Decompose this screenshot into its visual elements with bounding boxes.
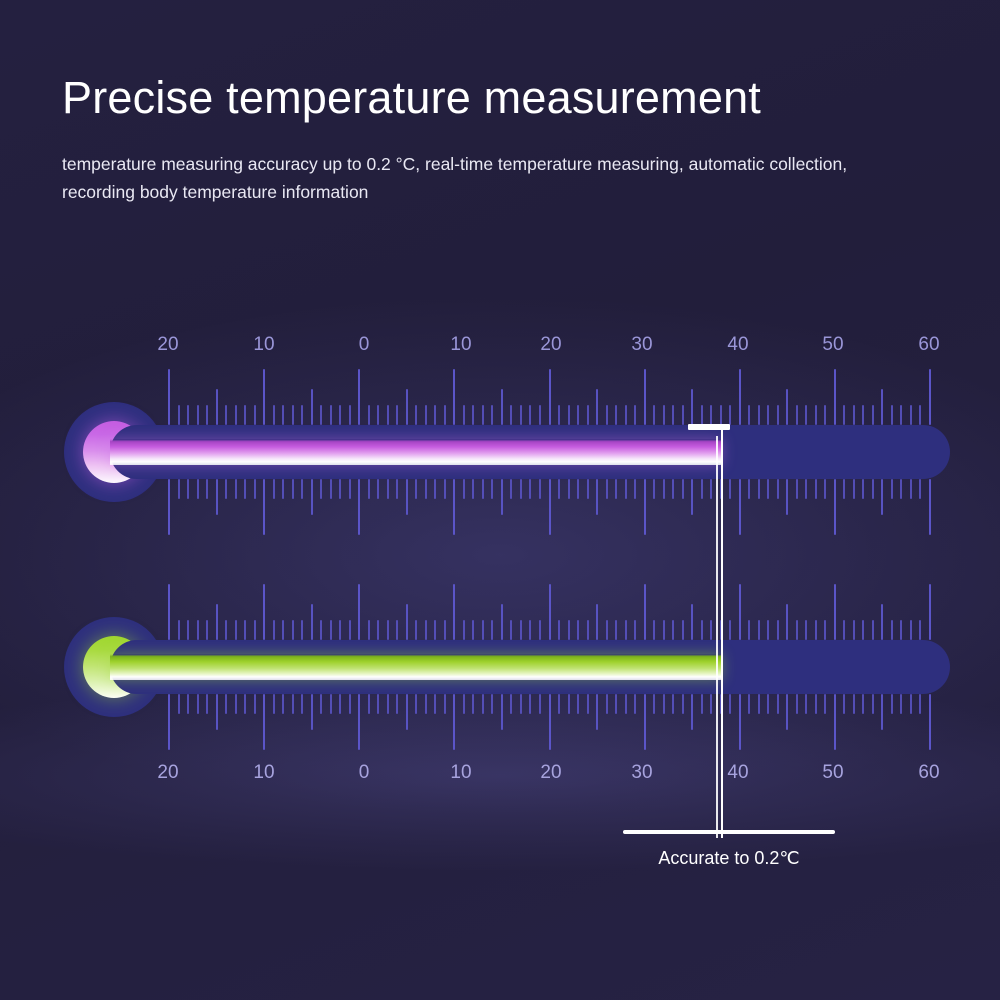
- ruler-tick: [377, 620, 379, 640]
- ruler-tick: [263, 369, 265, 425]
- ruler-tick: [187, 479, 189, 499]
- ruler-tick: [216, 694, 218, 730]
- ruler-tick: [786, 694, 788, 730]
- measurement-marker-line-secondary: [716, 436, 718, 838]
- ruler-tick: [891, 620, 893, 640]
- ruler-tick: [178, 405, 180, 425]
- ruler-tick: [606, 620, 608, 640]
- ruler-tick: [682, 405, 684, 425]
- ruler-tick: [368, 694, 370, 714]
- ruler-tick: [929, 584, 931, 640]
- ruler-tick: [919, 620, 921, 640]
- ruler-tick: [415, 620, 417, 640]
- top-scale-label-2: 0: [359, 334, 370, 356]
- ruler-tick: [434, 405, 436, 425]
- ruler-tick: [625, 694, 627, 714]
- ruler-tick: [349, 620, 351, 640]
- ruler-tick: [292, 479, 294, 499]
- ruler-tick: [843, 620, 845, 640]
- ruler-tick: [663, 694, 665, 714]
- ruler-tick: [796, 405, 798, 425]
- ruler-tick: [501, 479, 503, 515]
- ruler-tick: [900, 620, 902, 640]
- ruler-tick: [292, 694, 294, 714]
- ruler-tick: [834, 584, 836, 640]
- ruler-tick: [387, 620, 389, 640]
- ruler-tick: [168, 479, 170, 535]
- ruler-tick: [168, 584, 170, 640]
- ruler-tick: [339, 405, 341, 425]
- ruler-tick: [320, 479, 322, 499]
- ruler-tick: [453, 479, 455, 535]
- ruler-tick: [919, 479, 921, 499]
- ruler-tick: [701, 405, 703, 425]
- ruler-tick: [396, 479, 398, 499]
- ruler-tick: [644, 584, 646, 640]
- ruler-tick: [843, 405, 845, 425]
- ruler-tick: [672, 479, 674, 499]
- ruler-tick: [625, 479, 627, 499]
- ruler-tick: [596, 389, 598, 425]
- ruler-tick: [254, 694, 256, 714]
- ruler-tick: [891, 694, 893, 714]
- top-scale-label-4: 20: [540, 334, 561, 356]
- ruler-tick: [615, 694, 617, 714]
- ruler-tick: [805, 479, 807, 499]
- ruler-tick: [472, 620, 474, 640]
- ruler-tick: [805, 694, 807, 714]
- ruler-tick: [862, 694, 864, 714]
- ruler-tick: [339, 479, 341, 499]
- ruler-tick: [577, 405, 579, 425]
- ruler-tick: [197, 620, 199, 640]
- ruler-tick: [235, 405, 237, 425]
- ruler-tick: [663, 620, 665, 640]
- ruler-tick: [853, 620, 855, 640]
- bottom-scale-label-0: 20: [157, 762, 178, 784]
- ruler-tick: [434, 620, 436, 640]
- ruler-tick: [701, 694, 703, 714]
- ruler-tick: [178, 620, 180, 640]
- callout-label: Accurate to 0.2℃: [658, 848, 799, 869]
- bottom-fill-bar: [110, 654, 722, 680]
- ruler-tick: [178, 694, 180, 714]
- ruler-tick: [187, 405, 189, 425]
- ruler-tick: [396, 620, 398, 640]
- ruler-tick: [510, 694, 512, 714]
- ruler-tick: [282, 479, 284, 499]
- ruler-tick: [463, 694, 465, 714]
- ruler-tick: [311, 389, 313, 425]
- ruler-tick: [682, 694, 684, 714]
- ruler-tick: [311, 479, 313, 515]
- ruler-tick: [596, 604, 598, 640]
- ruler-tick: [358, 479, 360, 535]
- ruler-tick: [672, 694, 674, 714]
- ruler-tick: [453, 369, 455, 425]
- ruler-tick: [577, 694, 579, 714]
- ruler-tick: [539, 479, 541, 499]
- ruler-tick: [777, 620, 779, 640]
- ruler-tick: [415, 405, 417, 425]
- ruler-tick: [929, 369, 931, 425]
- ruler-tick: [425, 694, 427, 714]
- ruler-tick: [254, 479, 256, 499]
- ruler-tick: [615, 405, 617, 425]
- ruler-tick: [701, 479, 703, 499]
- ruler-tick: [510, 620, 512, 640]
- ruler-tick: [206, 479, 208, 499]
- ruler-tick: [463, 620, 465, 640]
- ruler-tick: [425, 405, 427, 425]
- ruler-tick: [691, 694, 693, 730]
- ruler-tick: [320, 620, 322, 640]
- ruler-tick: [539, 405, 541, 425]
- ruler-tick: [910, 479, 912, 499]
- ruler-tick: [235, 620, 237, 640]
- ruler-tick: [387, 694, 389, 714]
- ruler-tick: [235, 479, 237, 499]
- ruler-tick: [739, 369, 741, 425]
- ruler-tick: [396, 694, 398, 714]
- ruler-tick: [853, 479, 855, 499]
- ruler-tick: [862, 620, 864, 640]
- top-scale-labels: 20100102030405060: [120, 334, 980, 364]
- ruler-tick: [568, 405, 570, 425]
- ruler-tick: [682, 479, 684, 499]
- ruler-tick: [301, 620, 303, 640]
- ruler-tick: [558, 405, 560, 425]
- ruler-tick: [377, 694, 379, 714]
- ruler-tick: [301, 405, 303, 425]
- ruler-tick: [415, 479, 417, 499]
- ruler-tick: [225, 694, 227, 714]
- ruler-tick: [263, 479, 265, 535]
- ruler-tick: [558, 694, 560, 714]
- ruler-tick: [577, 620, 579, 640]
- ruler-tick: [701, 620, 703, 640]
- ruler-tick: [225, 405, 227, 425]
- ruler-tick: [539, 694, 541, 714]
- ruler-tick: [529, 694, 531, 714]
- ruler-tick: [482, 694, 484, 714]
- ruler-tick: [491, 479, 493, 499]
- ruler-tick: [824, 694, 826, 714]
- ruler-tick: [453, 694, 455, 750]
- ruler-tick: [615, 479, 617, 499]
- ruler-tick: [815, 479, 817, 499]
- ruler-tick: [263, 694, 265, 750]
- ruler-tick: [482, 620, 484, 640]
- ruler-tick: [748, 620, 750, 640]
- ruler-tick: [568, 479, 570, 499]
- ruler-tick: [691, 604, 693, 640]
- ruler-tick: [206, 694, 208, 714]
- ruler-tick: [358, 694, 360, 750]
- ruler-tick: [815, 694, 817, 714]
- ruler-tick: [406, 479, 408, 515]
- ruler-tick: [653, 694, 655, 714]
- ruler-tick: [549, 694, 551, 750]
- ruler-tick: [358, 584, 360, 640]
- ruler-tick: [539, 620, 541, 640]
- ruler-tick: [549, 479, 551, 535]
- ruler-tick: [406, 389, 408, 425]
- ruler-tick: [767, 694, 769, 714]
- ruler-tick: [529, 479, 531, 499]
- ruler-tick: [501, 604, 503, 640]
- bottom-scale-label-1: 10: [253, 762, 274, 784]
- ruler-tick: [653, 405, 655, 425]
- ruler-tick: [444, 405, 446, 425]
- ruler-tick: [434, 479, 436, 499]
- ruler-tick: [891, 479, 893, 499]
- ruler-tick: [558, 620, 560, 640]
- ruler-tick: [862, 405, 864, 425]
- ruler-tick: [387, 479, 389, 499]
- ruler-tick: [710, 620, 712, 640]
- ruler-tick: [444, 479, 446, 499]
- ruler-tick: [872, 405, 874, 425]
- ruler-tick: [520, 620, 522, 640]
- ruler-tick: [672, 620, 674, 640]
- ruler-tick: [748, 479, 750, 499]
- ruler-tick: [197, 405, 199, 425]
- ruler-tick: [767, 620, 769, 640]
- ruler-tick: [444, 694, 446, 714]
- ruler-tick: [501, 389, 503, 425]
- ruler-tick: [244, 694, 246, 714]
- ruler-tick: [491, 694, 493, 714]
- measurement-marker-line: [721, 424, 723, 838]
- bottom-scale-label-5: 30: [631, 762, 652, 784]
- ruler-tick: [634, 405, 636, 425]
- ruler-tick: [805, 405, 807, 425]
- ruler-tick: [178, 479, 180, 499]
- bottom-scale-label-2: 0: [359, 762, 370, 784]
- ruler-tick: [197, 694, 199, 714]
- ruler-tick: [273, 479, 275, 499]
- ruler-tick: [206, 620, 208, 640]
- ruler-tick: [273, 694, 275, 714]
- ruler-tick: [606, 694, 608, 714]
- ruler-tick: [254, 620, 256, 640]
- ruler-tick: [349, 694, 351, 714]
- ruler-tick: [872, 479, 874, 499]
- ruler-tick: [634, 479, 636, 499]
- ruler-tick: [244, 479, 246, 499]
- ruler-tick: [881, 694, 883, 730]
- ruler-tick: [187, 620, 189, 640]
- ruler-tick: [815, 620, 817, 640]
- ruler-tick: [625, 620, 627, 640]
- ruler-tick: [320, 405, 322, 425]
- ruler-tick: [482, 405, 484, 425]
- bottom-scale-label-3: 10: [450, 762, 471, 784]
- ruler-tick: [777, 694, 779, 714]
- ruler-tick: [625, 405, 627, 425]
- ruler-tick: [729, 694, 731, 714]
- ruler-tick: [301, 479, 303, 499]
- ruler-tick: [881, 389, 883, 425]
- ruler-tick: [634, 694, 636, 714]
- top-scale-label-8: 60: [918, 334, 939, 356]
- ruler-tick: [244, 620, 246, 640]
- ruler-tick: [168, 694, 170, 750]
- ruler-tick: [824, 405, 826, 425]
- ruler-tick: [644, 369, 646, 425]
- ruler-tick: [491, 405, 493, 425]
- ruler-tick: [758, 479, 760, 499]
- bottom-scale-label-8: 60: [918, 762, 939, 784]
- ruler-tick: [225, 620, 227, 640]
- ruler-tick: [292, 405, 294, 425]
- ruler-tick: [216, 479, 218, 515]
- ruler-tick: [881, 604, 883, 640]
- ruler-tick: [663, 405, 665, 425]
- ruler-tick: [919, 694, 921, 714]
- ruler-tick: [824, 479, 826, 499]
- ruler-tick: [472, 479, 474, 499]
- ruler-tick: [377, 479, 379, 499]
- ruler-tick: [368, 479, 370, 499]
- ruler-tick: [872, 620, 874, 640]
- ruler-tick: [644, 479, 646, 535]
- ruler-tick: [834, 694, 836, 750]
- ruler-tick: [225, 479, 227, 499]
- ruler-tick: [786, 479, 788, 515]
- bottom-scale-label-6: 40: [727, 762, 748, 784]
- ruler-tick: [339, 620, 341, 640]
- ruler-tick: [330, 405, 332, 425]
- ruler-tick: [758, 620, 760, 640]
- ruler-tick: [596, 479, 598, 515]
- ruler-tick: [235, 694, 237, 714]
- ruler-tick: [843, 479, 845, 499]
- ruler-tick: [349, 479, 351, 499]
- bottom-scale-label-7: 50: [822, 762, 843, 784]
- ruler-tick: [634, 620, 636, 640]
- ruler-tick: [710, 479, 712, 499]
- ruler-tick: [853, 694, 855, 714]
- ruler-tick: [691, 389, 693, 425]
- ruler-tick: [330, 620, 332, 640]
- ruler-tick: [510, 479, 512, 499]
- ruler-tick: [368, 405, 370, 425]
- ruler-tick: [615, 620, 617, 640]
- ruler-tick: [453, 584, 455, 640]
- ruler-tick: [710, 694, 712, 714]
- ruler-tick: [206, 405, 208, 425]
- ruler-tick: [758, 405, 760, 425]
- ruler-tick: [862, 479, 864, 499]
- ruler-tick: [463, 479, 465, 499]
- ruler-tick: [739, 584, 741, 640]
- ruler-tick: [282, 405, 284, 425]
- ruler-tick: [282, 694, 284, 714]
- ruler-tick: [777, 405, 779, 425]
- ruler-tick: [529, 620, 531, 640]
- ruler-tick: [510, 405, 512, 425]
- ruler-tick: [891, 405, 893, 425]
- ruler-tick: [710, 405, 712, 425]
- ruler-tick: [425, 620, 427, 640]
- ruler-tick: [900, 479, 902, 499]
- ruler-tick: [587, 694, 589, 714]
- ruler-tick: [729, 479, 731, 499]
- ruler-tick: [606, 405, 608, 425]
- ruler-tick: [368, 620, 370, 640]
- ruler-tick: [587, 620, 589, 640]
- ruler-tick: [663, 479, 665, 499]
- ruler-tick: [520, 405, 522, 425]
- ruler-tick: [330, 479, 332, 499]
- ruler-tick: [549, 584, 551, 640]
- thermometer-diagram: 20100102030405060 20100102030405060 Accu…: [0, 0, 1000, 1000]
- ruler-tick: [739, 694, 741, 750]
- ruler-tick: [320, 694, 322, 714]
- ruler-tick: [682, 620, 684, 640]
- ruler-tick: [805, 620, 807, 640]
- bottom-scale-label-4: 20: [540, 762, 561, 784]
- ruler-tick: [834, 369, 836, 425]
- ruler-tick: [330, 694, 332, 714]
- ruler-tick: [349, 405, 351, 425]
- ruler-tick: [786, 604, 788, 640]
- ruler-tick: [339, 694, 341, 714]
- ruler-tick: [815, 405, 817, 425]
- ruler-tick: [900, 405, 902, 425]
- ruler-tick: [910, 694, 912, 714]
- ruler-tick: [786, 389, 788, 425]
- ruler-tick: [216, 389, 218, 425]
- ruler-tick: [872, 694, 874, 714]
- ruler-tick: [758, 694, 760, 714]
- ruler-tick: [577, 479, 579, 499]
- top-scale-label-6: 40: [727, 334, 748, 356]
- ruler-tick: [596, 694, 598, 730]
- ruler-tick: [910, 405, 912, 425]
- ruler-tick: [358, 369, 360, 425]
- ruler-tick: [425, 479, 427, 499]
- ruler-tick: [587, 479, 589, 499]
- ruler-tick: [187, 694, 189, 714]
- ruler-tick: [482, 479, 484, 499]
- ruler-tick: [910, 620, 912, 640]
- ruler-tick: [691, 479, 693, 515]
- ruler-tick: [796, 694, 798, 714]
- ruler-tick: [216, 604, 218, 640]
- ruler-tick: [254, 405, 256, 425]
- ruler-tick: [301, 694, 303, 714]
- ruler-tick: [387, 405, 389, 425]
- ruler-tick: [415, 694, 417, 714]
- ruler-tick: [881, 479, 883, 515]
- top-scale-label-0: 20: [157, 334, 178, 356]
- ruler-tick: [434, 694, 436, 714]
- ruler-tick: [472, 694, 474, 714]
- top-fill-bar: [110, 439, 722, 465]
- ruler-tick: [587, 405, 589, 425]
- ruler-tick: [491, 620, 493, 640]
- top-scale-label-7: 50: [822, 334, 843, 356]
- ruler-tick: [273, 405, 275, 425]
- ruler-tick: [472, 405, 474, 425]
- ruler-tick: [748, 405, 750, 425]
- ruler-tick: [463, 405, 465, 425]
- ruler-tick: [796, 620, 798, 640]
- ruler-tick: [520, 694, 522, 714]
